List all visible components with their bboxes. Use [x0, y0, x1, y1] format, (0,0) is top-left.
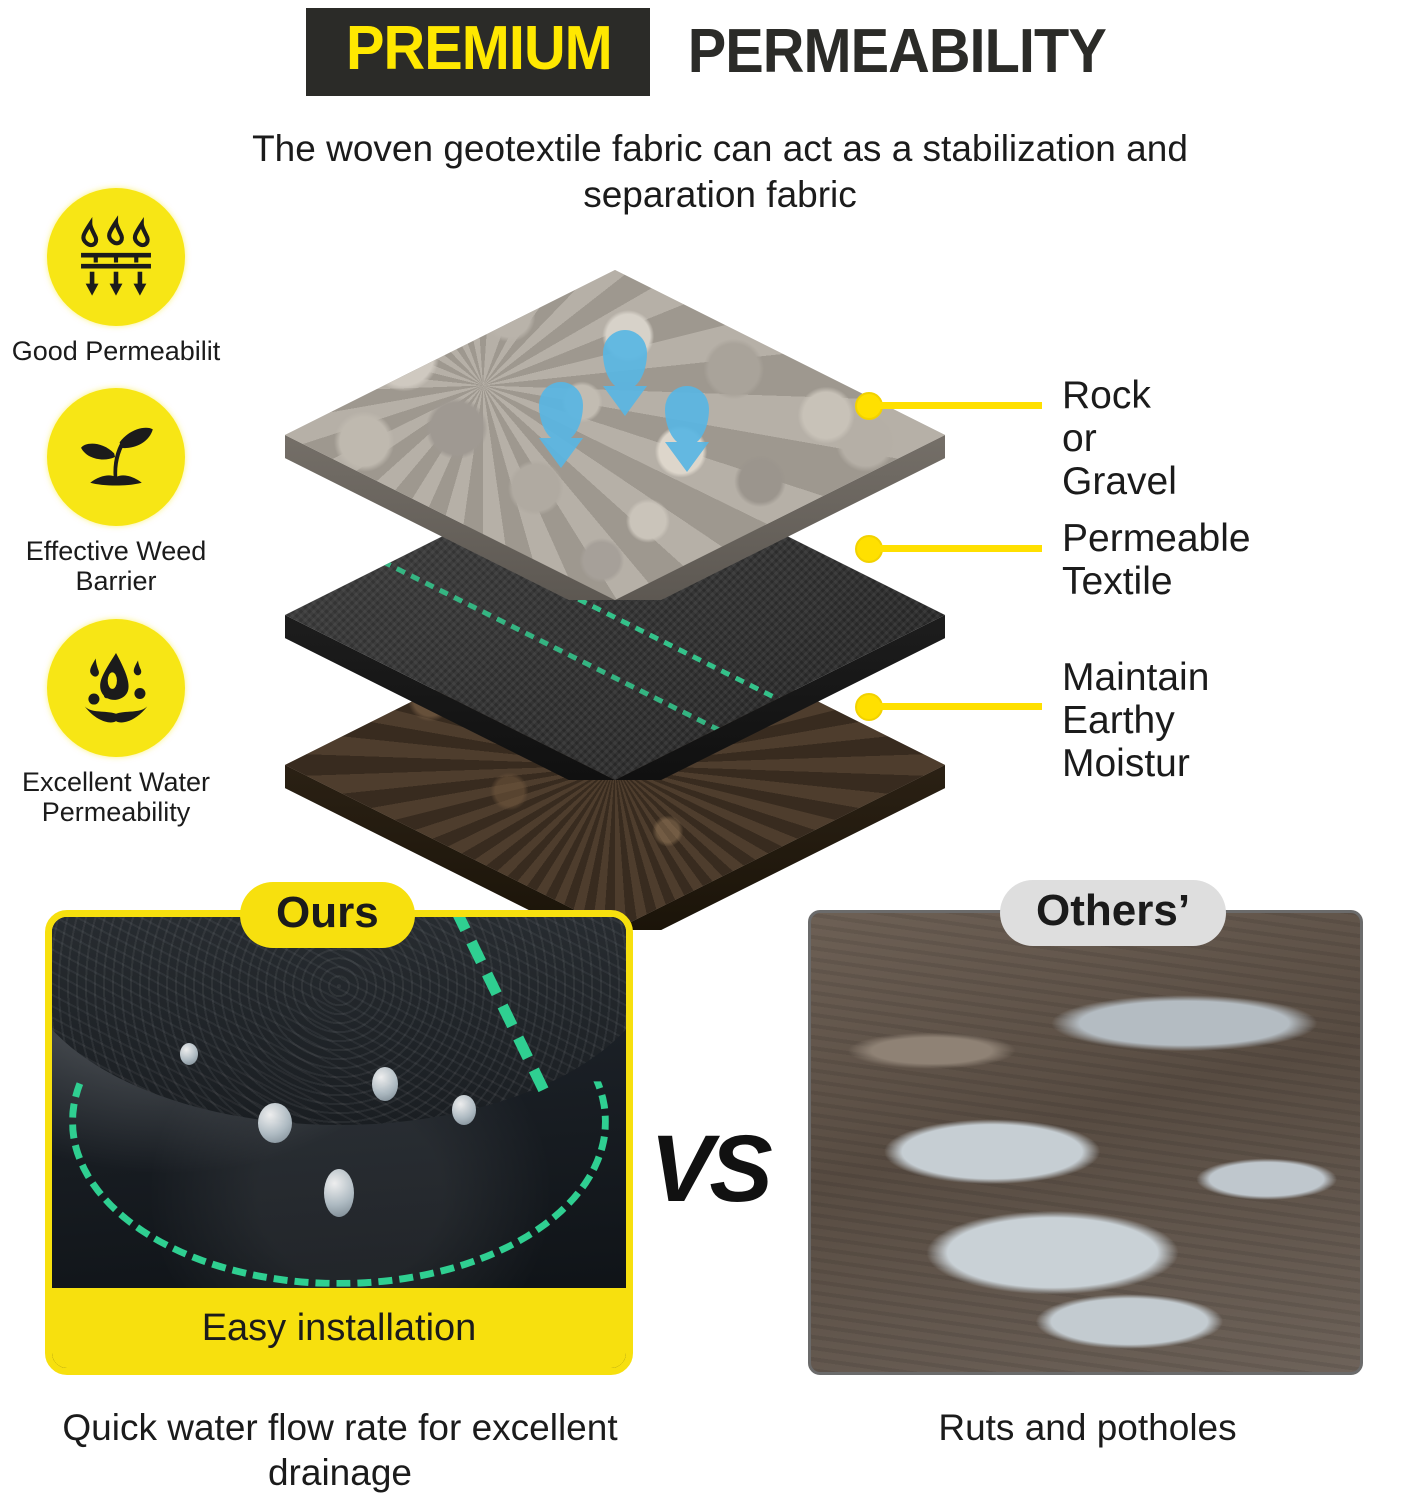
ours-photo [52, 917, 626, 1302]
feature-icon-circle [47, 188, 185, 326]
callout-dot [855, 535, 883, 563]
callout-line [880, 545, 1042, 552]
page-header: PREMIUM PERMEABILITY [0, 8, 1427, 96]
sprout-weed-barrier-icon [70, 411, 162, 503]
water-drop-basin-icon [70, 642, 162, 734]
feature-icon-circle [47, 388, 185, 526]
ours-badge: Ours [240, 882, 415, 948]
water-droplet [324, 1169, 354, 1217]
layer-diagram [285, 270, 975, 910]
water-permeability-icon [70, 211, 162, 303]
title-badge: PREMIUM [306, 8, 650, 96]
others-badge: Others’ [1000, 880, 1226, 946]
callout-line [880, 402, 1042, 409]
vs-label: VS [650, 1115, 769, 1224]
feature-list: Good Permeabilit Effective Weed Barrier [0, 188, 232, 849]
gravel-layer [285, 270, 945, 600]
water-droplet [258, 1103, 292, 1143]
feature-label: Effective Weed Barrier [0, 536, 232, 596]
ours-card: Easy installation [45, 910, 633, 1375]
water-droplet [372, 1067, 398, 1101]
feature-item-water-permeability: Excellent Water Permeability [0, 619, 232, 827]
callout-label: Maintain Earthy Moistur [1062, 657, 1209, 786]
water-droplet [180, 1043, 198, 1065]
gravel-layer-top [285, 270, 945, 600]
feature-item-permeability: Good Permeabilit [0, 188, 232, 366]
title-badge-text: PREMIUM [346, 18, 612, 80]
callout-label: Permeable Textile [1062, 518, 1251, 604]
callout-dot [855, 693, 883, 721]
water-drop-icon [665, 386, 709, 446]
callout-dot [855, 392, 883, 420]
water-drop-icon [603, 330, 647, 390]
ours-banner-label: Easy installation [52, 1288, 626, 1368]
others-caption: Ruts and potholes [810, 1405, 1365, 1450]
callout-line [880, 703, 1042, 710]
feature-icon-circle [47, 619, 185, 757]
water-drop-icon [539, 382, 583, 442]
subtitle-text: The woven geotextile fabric can act as a… [180, 126, 1260, 219]
callout-label: Rock or Gravel [1062, 375, 1177, 504]
feature-item-weed-barrier: Effective Weed Barrier [0, 388, 232, 596]
feature-label: Excellent Water Permeability [0, 767, 232, 827]
infographic-page: PREMIUM PERMEABILITY The woven geotextil… [0, 0, 1427, 1500]
water-droplet [452, 1095, 476, 1125]
others-card [808, 910, 1363, 1375]
ours-caption: Quick water flow rate for excellent drai… [35, 1405, 645, 1495]
feature-label: Good Permeabilit [0, 336, 232, 366]
page-title: PERMEABILITY [687, 21, 1105, 83]
